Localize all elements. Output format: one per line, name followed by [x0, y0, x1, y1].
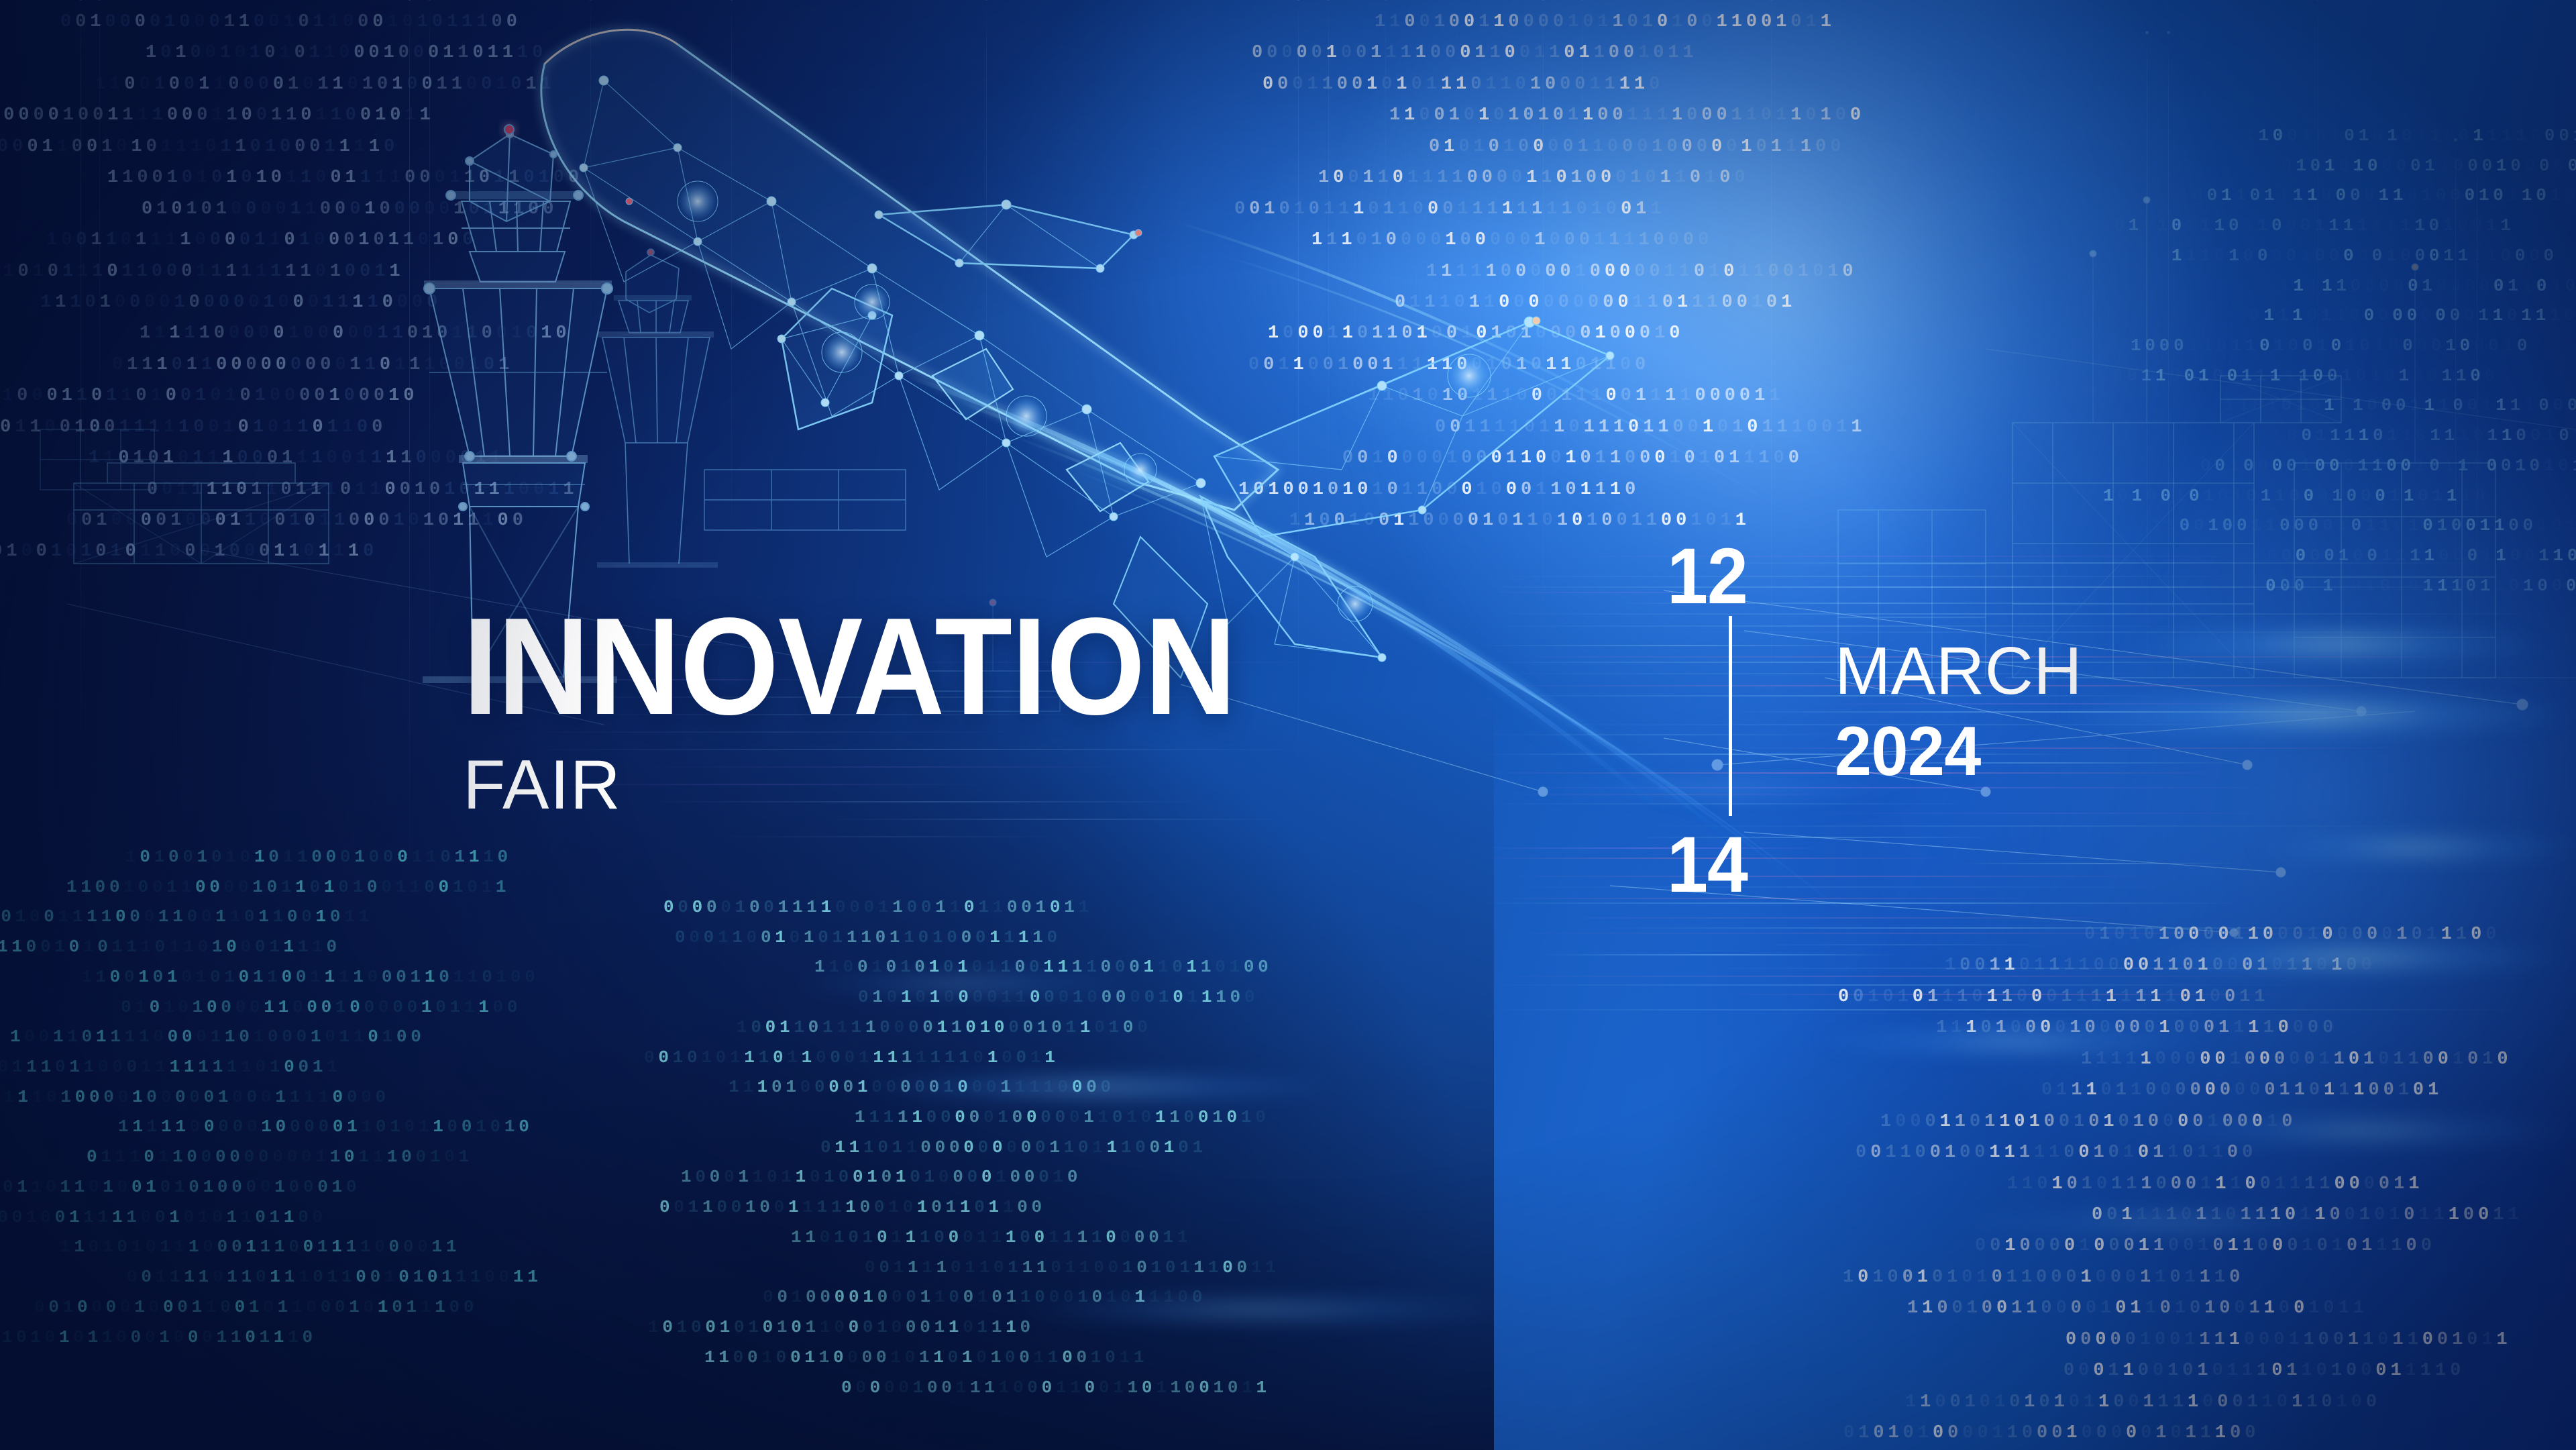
innovation-fair-banner: 0010000100011001011000101011100101001010… — [0, 0, 2576, 1450]
background-vignette — [0, 0, 2576, 1450]
